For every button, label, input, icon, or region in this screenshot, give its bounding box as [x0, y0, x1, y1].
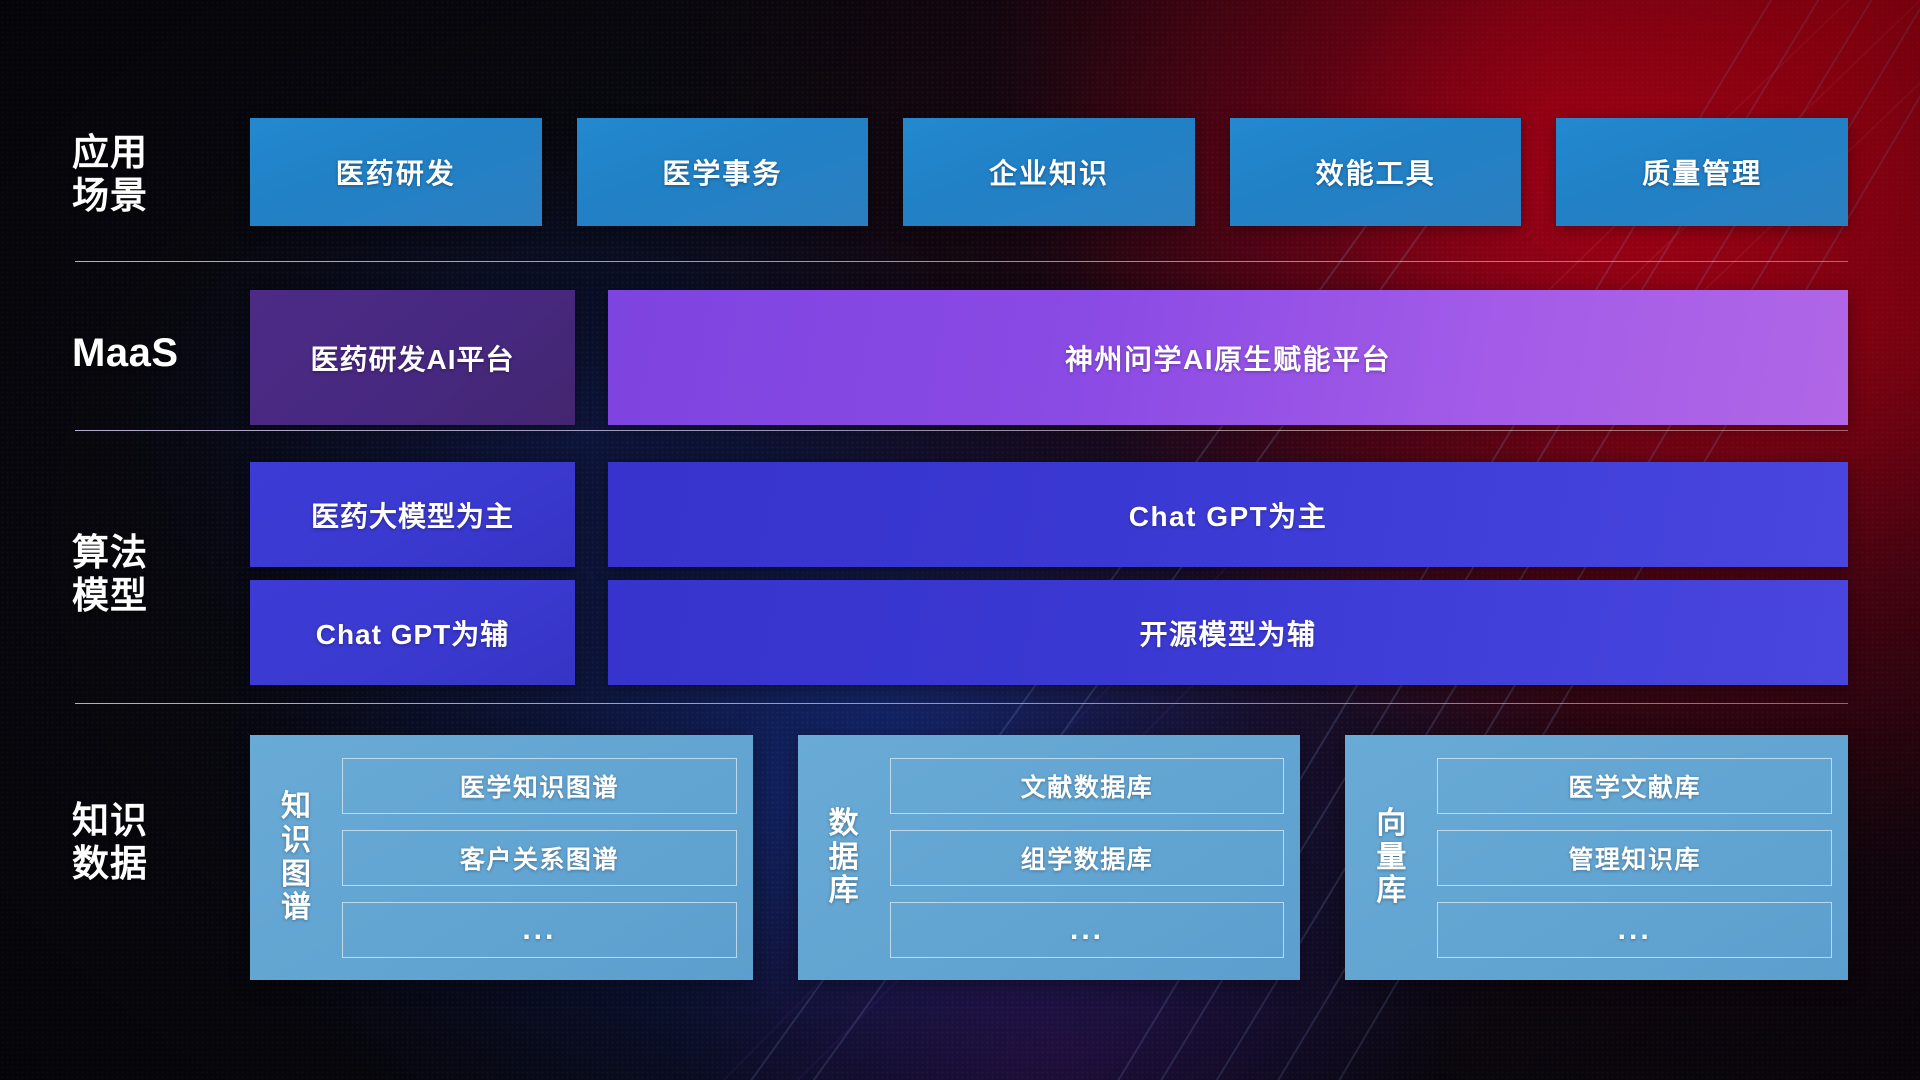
app-box-pharma-rd[interactable]: 医药研发	[250, 118, 542, 226]
row-label-algorithm-line1: 算法	[72, 532, 222, 575]
maas-card-shenzhou-wenxue-platform[interactable]: 神州问学AI原生赋能平台	[608, 290, 1848, 425]
row-label-knowledge-line1: 知识	[72, 800, 222, 843]
row-label-knowledge-line2: 数据	[72, 843, 222, 886]
knowledge-item-list: 文献数据库 组学数据库 ...	[874, 749, 1285, 966]
divider-application-maas	[75, 261, 1848, 262]
app-box-quality-management[interactable]: 质量管理	[1556, 118, 1848, 226]
knowledge-title-char: 量	[1376, 841, 1406, 875]
maas-card-pharma-ai-platform[interactable]: 医药研发AI平台	[250, 290, 575, 425]
knowledge-item-more[interactable]: ...	[342, 902, 737, 958]
knowledge-card-title-vector-store: 向 量 库	[1361, 749, 1421, 966]
app-box-efficiency-tools[interactable]: 效能工具	[1230, 118, 1522, 226]
architecture-diagram: 应用 场景 医药研发 医学事务 企业知识 效能工具 质量管理 MaaS 医药研发…	[0, 0, 1920, 1080]
divider-algorithm-knowledge	[75, 703, 1848, 704]
divider-maas-algorithm	[75, 430, 1848, 431]
knowledge-title-char: 谱	[281, 891, 311, 925]
knowledge-item-literature-database[interactable]: 文献数据库	[890, 758, 1285, 814]
app-box-enterprise-knowledge[interactable]: 企业知识	[903, 118, 1195, 226]
knowledge-item-list: 医学文献库 管理知识库 ...	[1421, 749, 1832, 966]
knowledge-card-title-database: 数 据 库	[814, 749, 874, 966]
row-label-application-line1: 应用	[72, 132, 222, 175]
knowledge-item-customer-relation-graph[interactable]: 客户关系图谱	[342, 830, 737, 886]
knowledge-title-char: 向	[1376, 807, 1406, 841]
knowledge-item-more[interactable]: ...	[890, 902, 1285, 958]
knowledge-item-medical-literature-store[interactable]: 医学文献库	[1437, 758, 1832, 814]
knowledge-item-management-knowledge-store[interactable]: 管理知识库	[1437, 830, 1832, 886]
algo-card-pharma-llm-primary[interactable]: 医药大模型为主	[250, 462, 575, 567]
knowledge-title-char: 数	[829, 807, 859, 841]
algo-card-chatgpt-secondary[interactable]: Chat GPT为辅	[250, 580, 575, 685]
knowledge-title-char: 识	[281, 824, 311, 858]
knowledge-item-more[interactable]: ...	[1437, 902, 1832, 958]
knowledge-title-char: 据	[829, 841, 859, 875]
knowledge-title-char: 库	[1376, 874, 1406, 908]
knowledge-item-omics-database[interactable]: 组学数据库	[890, 830, 1285, 886]
row-label-application-line2: 场景	[72, 175, 222, 218]
app-box-medical-affairs[interactable]: 医学事务	[577, 118, 869, 226]
row-label-algorithm: 算法 模型	[72, 532, 222, 618]
application-card-list: 医药研发 医学事务 企业知识 效能工具 质量管理	[250, 118, 1848, 226]
row-label-maas: MaaS	[72, 330, 222, 376]
knowledge-card-list: 知 识 图 谱 医学知识图谱 客户关系图谱 ... 数 据 库	[250, 735, 1848, 980]
knowledge-card-knowledge-graph[interactable]: 知 识 图 谱 医学知识图谱 客户关系图谱 ...	[250, 735, 753, 980]
knowledge-title-char: 库	[829, 874, 859, 908]
row-label-algorithm-line2: 模型	[72, 575, 222, 618]
algorithm-band-secondary: Chat GPT为辅 开源模型为辅	[250, 580, 1848, 685]
maas-card-list: 医药研发AI平台 神州问学AI原生赋能平台	[250, 290, 1848, 425]
algo-card-opensource-secondary[interactable]: 开源模型为辅	[608, 580, 1848, 685]
knowledge-title-char: 图	[281, 858, 311, 892]
knowledge-title-char: 知	[281, 790, 311, 824]
algorithm-band-primary: 医药大模型为主 Chat GPT为主	[250, 462, 1848, 567]
knowledge-card-vector-store[interactable]: 向 量 库 医学文献库 管理知识库 ...	[1345, 735, 1848, 980]
knowledge-item-list: 医学知识图谱 客户关系图谱 ...	[326, 749, 737, 966]
knowledge-card-database[interactable]: 数 据 库 文献数据库 组学数据库 ...	[798, 735, 1301, 980]
knowledge-card-title-knowledge-graph: 知 识 图 谱	[266, 749, 326, 966]
algo-card-chatgpt-primary[interactable]: Chat GPT为主	[608, 462, 1848, 567]
knowledge-item-medical-knowledge-graph[interactable]: 医学知识图谱	[342, 758, 737, 814]
row-label-knowledge: 知识 数据	[72, 800, 222, 886]
row-label-application: 应用 场景	[72, 132, 222, 218]
